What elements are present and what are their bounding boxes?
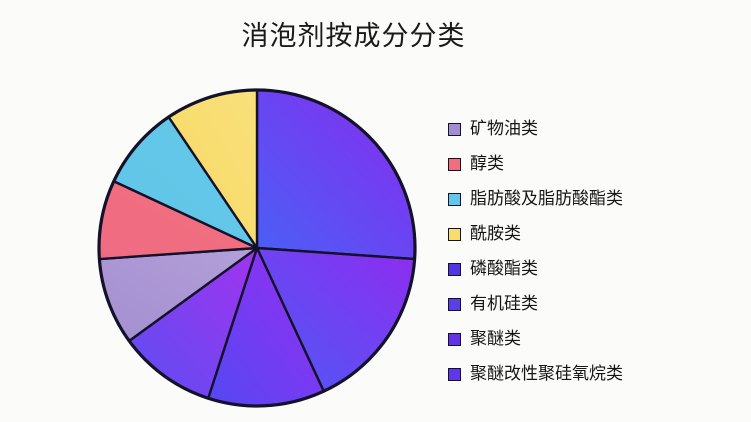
pie-plot-area bbox=[95, 86, 420, 411]
chart-title: 消泡剂按成分分类 bbox=[0, 14, 751, 53]
legend-swatch-icon bbox=[448, 228, 461, 241]
legend-item[interactable]: 酰胺类 bbox=[448, 217, 698, 252]
chart-title-text: 消泡剂按成分分类 bbox=[242, 14, 466, 53]
legend-swatch-icon bbox=[448, 158, 461, 171]
legend-item[interactable]: 聚醚改性聚硅氧烷类 bbox=[448, 357, 698, 392]
pie-slice[interactable] bbox=[257, 90, 415, 259]
legend-item[interactable]: 矿物油类 bbox=[448, 112, 698, 147]
legend-item-label: 有机硅类 bbox=[470, 296, 538, 313]
legend-swatch-icon bbox=[448, 333, 461, 346]
chart-legend: 矿物油类醇类脂肪酸及脂肪酸酯类酰胺类磷酸酯类有机硅类聚醚类聚醚改性聚硅氧烷类 bbox=[448, 112, 698, 392]
legend-swatch-icon bbox=[448, 368, 461, 381]
legend-item-label: 聚醚改性聚硅氧烷类 bbox=[470, 366, 623, 383]
legend-item[interactable]: 聚醚类 bbox=[448, 322, 698, 357]
legend-item-label: 醇类 bbox=[470, 156, 504, 173]
legend-swatch-icon bbox=[448, 263, 461, 276]
legend-item-label: 酰胺类 bbox=[470, 226, 521, 243]
legend-swatch-icon bbox=[448, 298, 461, 311]
pie-svg bbox=[95, 86, 420, 411]
legend-item[interactable]: 磷酸酯类 bbox=[448, 252, 698, 287]
legend-item-label: 聚醚类 bbox=[470, 331, 521, 348]
legend-item-label: 矿物油类 bbox=[470, 121, 538, 138]
legend-swatch-icon bbox=[448, 123, 461, 136]
legend-swatch-icon bbox=[448, 193, 461, 206]
legend-item[interactable]: 脂肪酸及脂肪酸酯类 bbox=[448, 182, 698, 217]
legend-item-label: 脂肪酸及脂肪酸酯类 bbox=[470, 191, 623, 208]
legend-item-label: 磷酸酯类 bbox=[470, 261, 538, 278]
legend-item[interactable]: 醇类 bbox=[448, 147, 698, 182]
pie-chart-figure: 消泡剂按成分分类 矿物油类醇类脂肪酸及脂肪酸酯类酰胺类磷酸酯类有机硅类聚醚类聚醚… bbox=[0, 0, 751, 422]
legend-item[interactable]: 有机硅类 bbox=[448, 287, 698, 322]
